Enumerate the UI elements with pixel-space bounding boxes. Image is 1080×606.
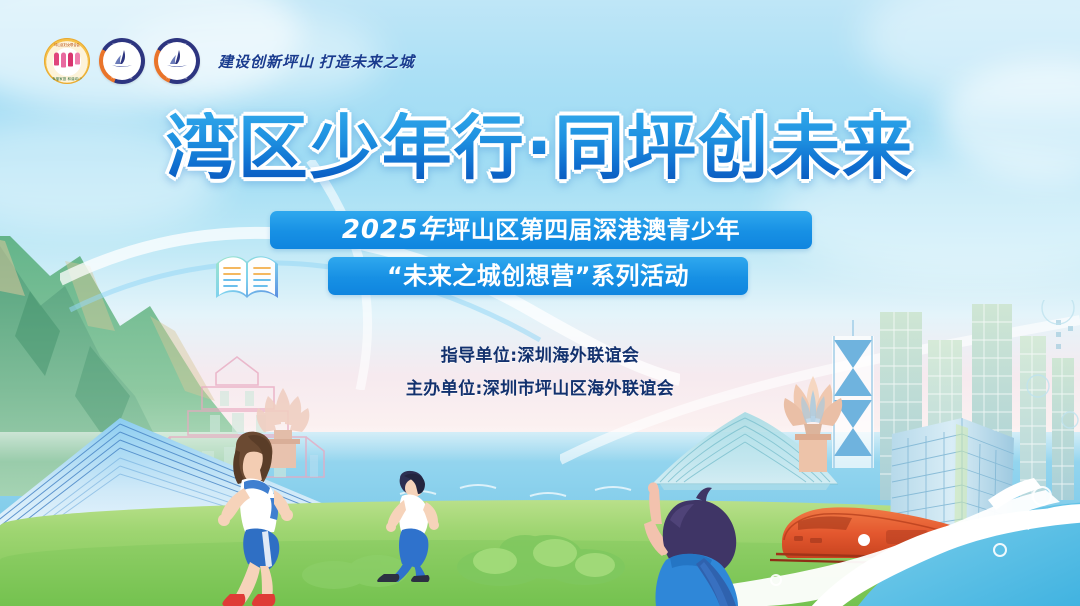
subtitle-bar-primary-text: 2025年坪山区第四届深港澳青少年 — [342, 217, 740, 243]
pingshan-family-emblem-icon[interactable]: 坪山区妇女联合会 幸福家庭 和谐坪山 — [44, 38, 90, 84]
brand-bar: 坪山区妇女联合会 幸福家庭 和谐坪山 深圳市坪山区 海 外 联 谊 会 深圳市坪… — [44, 38, 415, 84]
badge-top-text: 深圳市坪山区 — [154, 43, 200, 47]
subtitle-bar-primary: 2025年坪山区第四届深港澳青少年 — [270, 211, 812, 249]
page-title: 湾区少年行·同坪创未来 — [166, 112, 915, 185]
family-figures — [54, 52, 80, 67]
open-book-icon — [210, 250, 284, 306]
event-name-line1: 坪山区第四届深港澳青少年 — [446, 216, 740, 244]
organizer-line-guidance: 指导单位:深圳海外联谊会 — [0, 340, 1080, 373]
running-boy — [370, 470, 450, 582]
emblem-top-text: 坪山区妇女联合会 — [44, 42, 90, 47]
poster-canvas: 坪山区妇女联合会 幸福家庭 和谐坪山 深圳市坪山区 海 外 联 谊 会 深圳市坪… — [0, 0, 1080, 606]
title-block: 湾区少年行·同坪创未来 — [0, 112, 1080, 185]
pointing-boy — [600, 480, 740, 606]
event-year: 2025年 — [342, 215, 445, 245]
wave-foam — [690, 478, 1080, 606]
badge-bottom-text: 海 外 联 谊 会 — [154, 74, 200, 79]
organizer-line-host: 主办单位:深圳市坪山区海外联谊会 — [0, 373, 1080, 406]
event-name-line2: “未来之城创想营”系列活动 — [387, 264, 689, 288]
organizer-block: 指导单位:深圳海外联谊会 主办单位:深圳市坪山区海外联谊会 — [0, 340, 1080, 406]
sail-boat-icon — [110, 49, 134, 69]
subtitle-bar-secondary: “未来之城创想营”系列活动 — [328, 257, 748, 295]
sail-boat-icon — [165, 49, 189, 69]
overseas-friendship-badge-2-icon[interactable]: 深圳市坪山区 海 外 联 谊 会 — [154, 38, 200, 84]
overseas-friendship-badge-1-icon[interactable]: 深圳市坪山区 海 外 联 谊 会 — [99, 38, 145, 84]
brand-slogan: 建设创新坪山 打造未来之城 — [218, 51, 415, 72]
badge-top-text: 深圳市坪山区 — [99, 43, 145, 47]
running-girl — [190, 430, 300, 606]
emblem-bottom-text: 幸福家庭 和谐坪山 — [44, 76, 90, 81]
badge-bottom-text: 海 外 联 谊 会 — [99, 74, 145, 79]
